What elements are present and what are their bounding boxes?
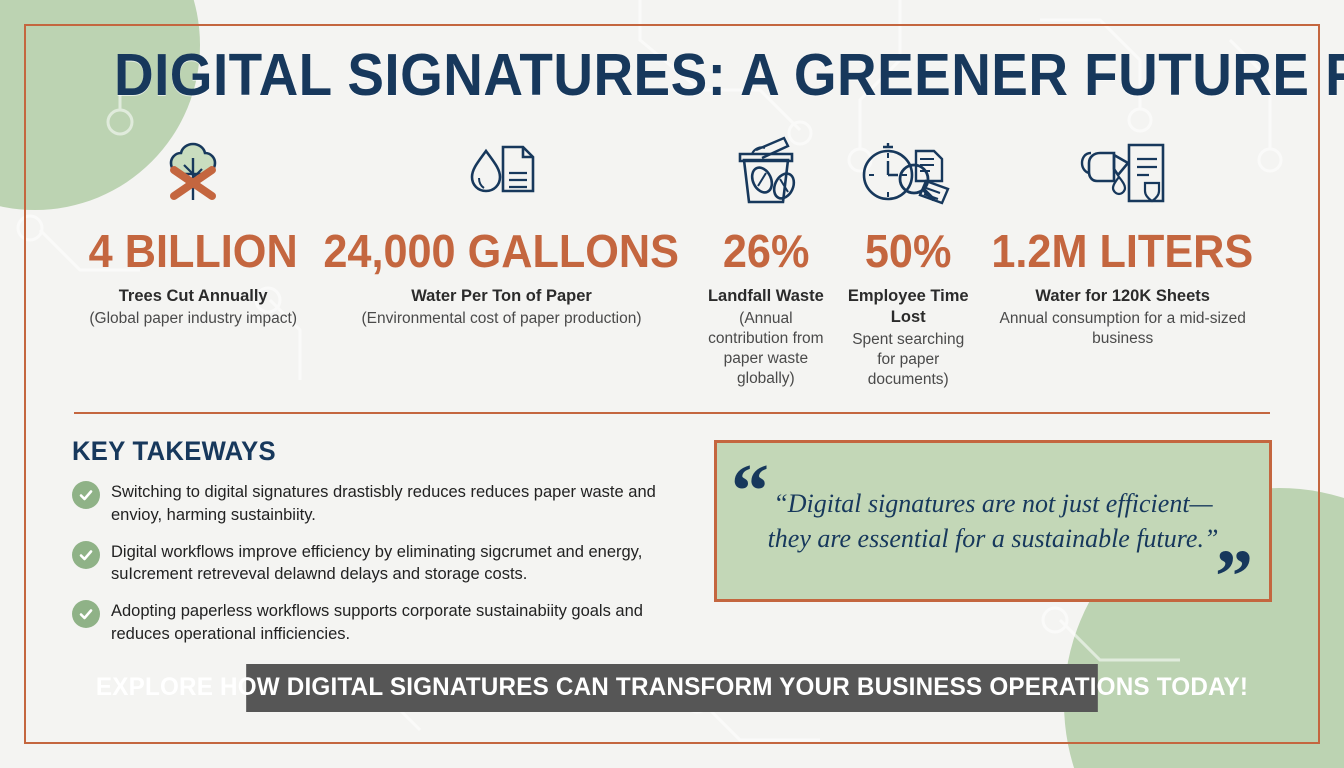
watering-can-document-icon	[983, 131, 1262, 217]
quote-text: “Digital signatures are not just efficie…	[743, 486, 1243, 556]
stat-sublabel: (Environmental cost of paper production)	[312, 309, 690, 329]
stopwatch-magnifier-documents-icon	[841, 131, 975, 217]
stat-value: 4 BILLION	[89, 227, 298, 275]
stat-value: 26%	[703, 227, 829, 275]
stat-card-time-lost: 50% Employee Time Lost Spent searching f…	[837, 131, 979, 390]
stat-label: Landfall Waste	[699, 286, 833, 307]
stat-card-landfill: 26% Landfall Waste (Annual contribution …	[695, 131, 837, 389]
page-title: DIGITAL SIGNATURES: A GREENER FUTURE FOR…	[114, 46, 1230, 105]
key-takeaways-heading: KEY TAKEWAYS	[72, 436, 661, 467]
check-icon	[72, 541, 100, 569]
stat-card-water-sheets: 1.2M LITERS Water for 120K Sheets Annual…	[979, 131, 1266, 349]
stat-sublabel: (Global paper industry impact)	[82, 309, 304, 329]
stat-value: 24,000 GALLONS	[324, 227, 680, 275]
quote-open-mark: “	[731, 469, 769, 515]
quote-close-mark: ”	[1215, 555, 1253, 601]
check-icon	[72, 481, 100, 509]
stat-sublabel: Spent searching for paper documents)	[841, 330, 975, 390]
stats-row: 4 BILLION Trees Cut Annually (Global pap…	[72, 131, 1272, 390]
poster-frame: DIGITAL SIGNATURES: A GREENER FUTURE FOR…	[24, 24, 1320, 744]
quote-callout: “ “Digital signatures are not just effic…	[714, 440, 1272, 602]
tree-cut-icon	[82, 131, 304, 217]
key-takeaways-section: KEY TAKEWAYS Switching to digital signat…	[72, 436, 692, 646]
stat-sublabel: (Annual contribution from paper waste gl…	[699, 309, 833, 390]
takeaway-item: Digital workflows improve efficiency by …	[72, 540, 692, 587]
stat-sublabel: Annual consumption for a mid-sized busin…	[983, 309, 1262, 349]
takeaway-item: Adopting paperless workflows supports co…	[72, 599, 692, 646]
water-drop-document-icon	[312, 131, 690, 217]
section-divider	[74, 412, 1270, 414]
stat-label: Trees Cut Annually	[82, 286, 304, 307]
stat-label: Water for 120K Sheets	[983, 286, 1262, 307]
stat-card-trees: 4 BILLION Trees Cut Annually (Global pap…	[78, 131, 308, 329]
takeaway-text: Digital workflows improve efficiency by …	[111, 540, 692, 587]
stat-label: Water Per Ton of Paper	[312, 286, 690, 307]
stat-label: Employee Time Lost	[841, 286, 975, 327]
stat-card-water-per-ton: 24,000 GALLONS Water Per Ton of Paper (E…	[308, 131, 694, 329]
takeaway-text: Adopting paperless workflows supports co…	[111, 599, 692, 646]
lower-section: KEY TAKEWAYS Switching to digital signat…	[72, 436, 1272, 646]
stat-value: 1.2M LITERS	[992, 227, 1254, 275]
trash-bin-leaves-icon	[699, 131, 833, 217]
cta-banner[interactable]: EXPLORE HOW DIGITAL SIGNATURES CAN TRANS…	[246, 664, 1098, 712]
stat-value: 50%	[845, 227, 971, 275]
takeaway-item: Switching to digital signatures drastisb…	[72, 480, 692, 527]
takeaway-text: Switching to digital signatures drastisb…	[111, 480, 692, 527]
check-icon	[72, 600, 100, 628]
